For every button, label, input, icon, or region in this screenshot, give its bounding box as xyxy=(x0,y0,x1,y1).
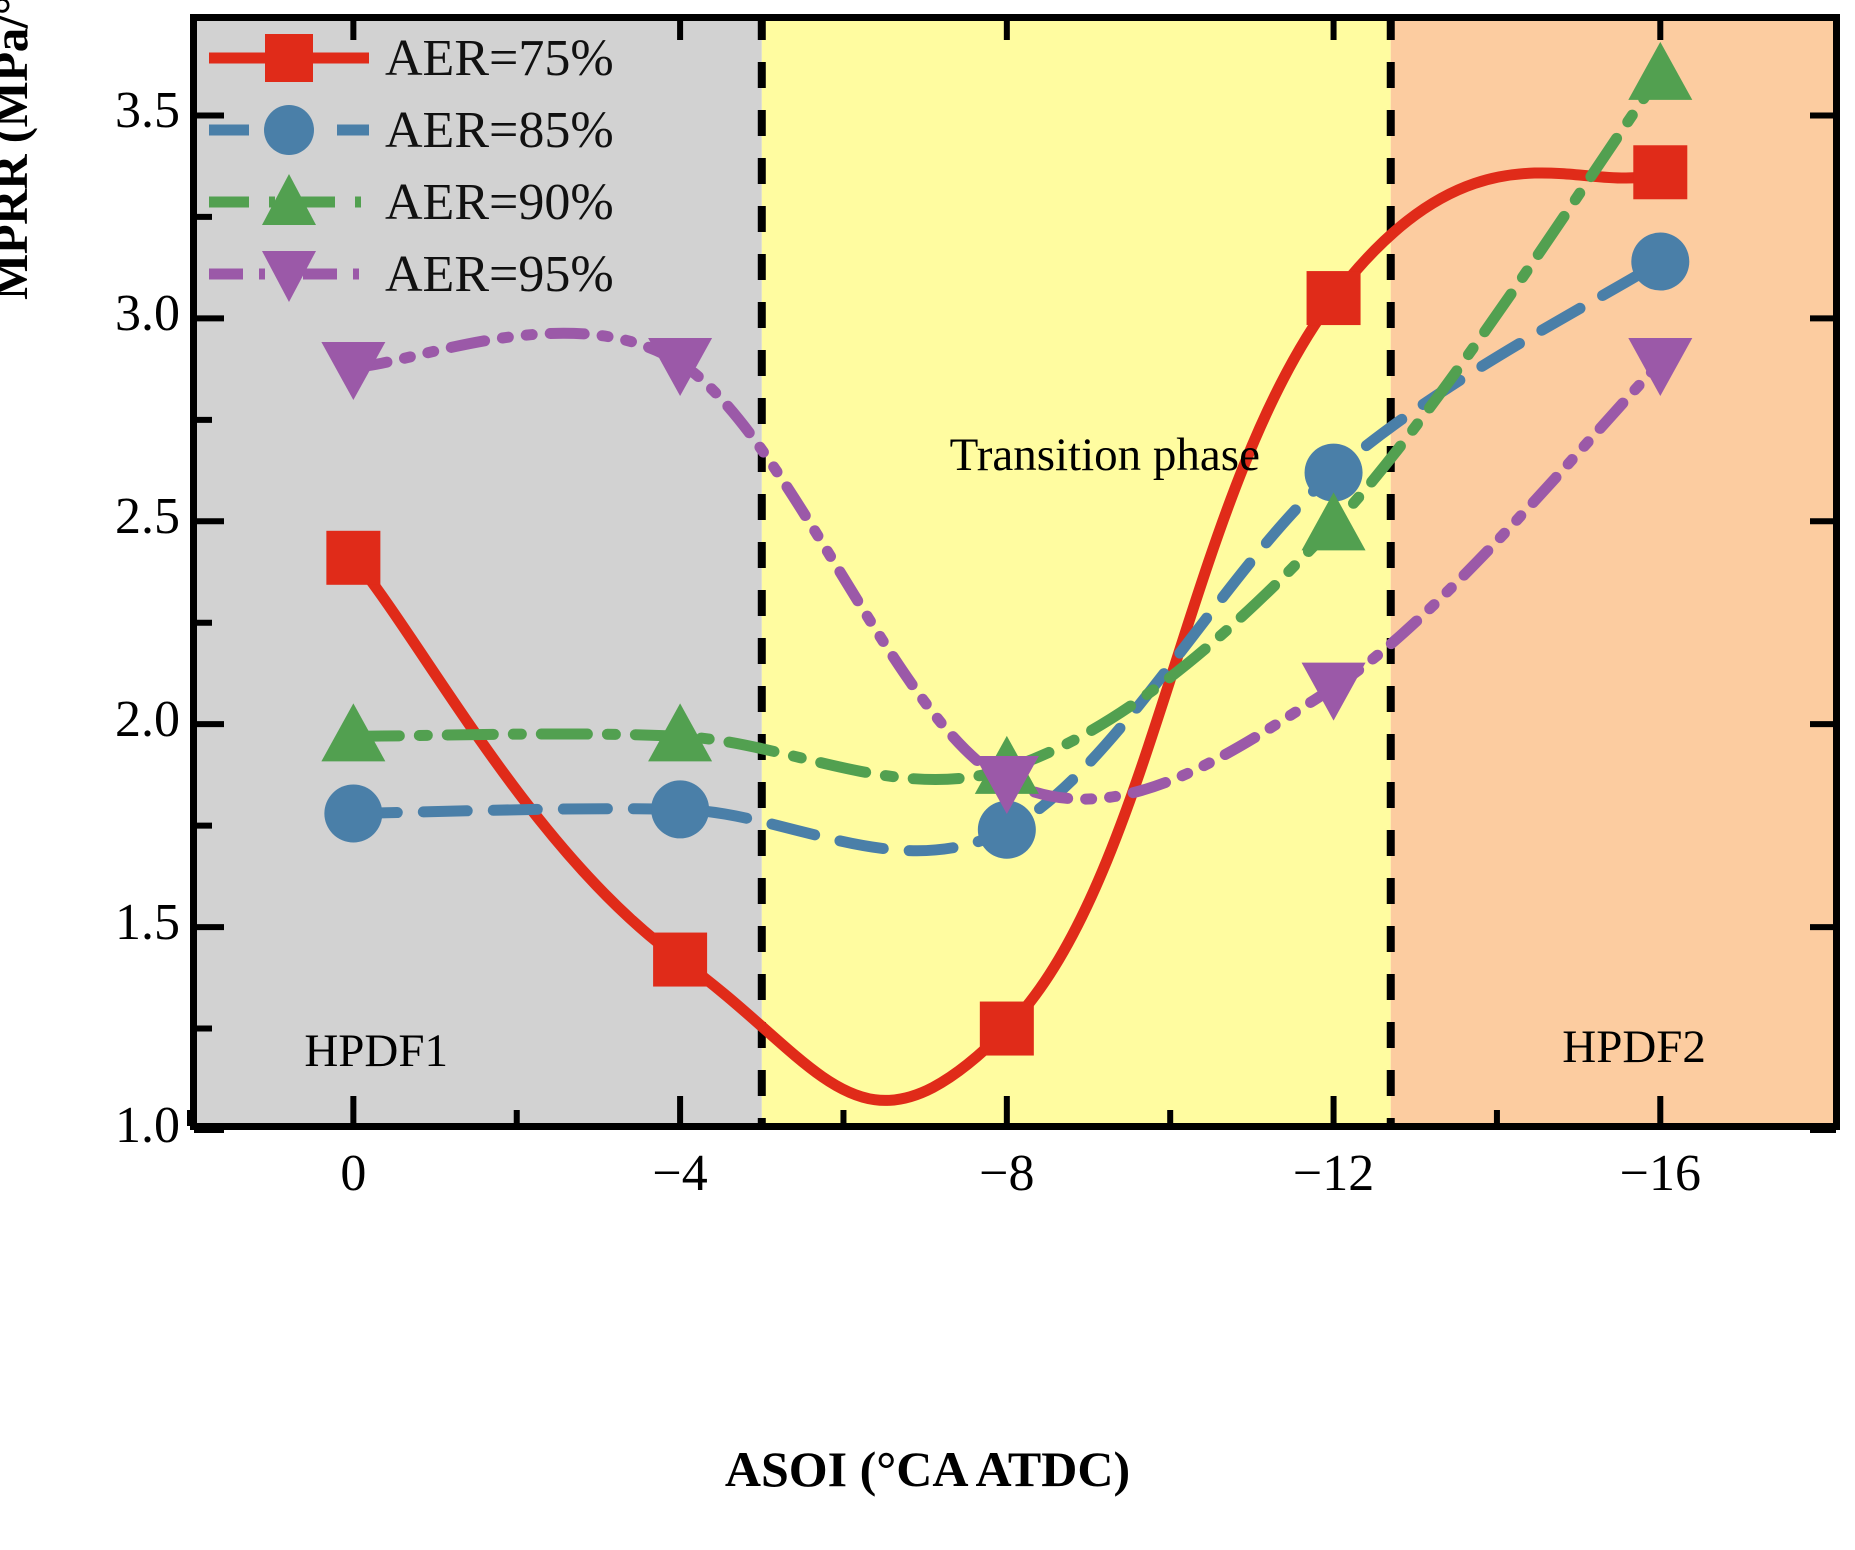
hpdf2-label: HPDF2 xyxy=(1562,1020,1706,1074)
x-tick-label-2: −8 xyxy=(917,1144,1097,1203)
legend: AER=75%AER=85%AER=90%AER=95% xyxy=(205,22,675,310)
legend-label-1: AER=85% xyxy=(385,101,614,160)
data-point-aer-75-2 xyxy=(980,1002,1034,1056)
transition-label: Transition phase xyxy=(950,428,1260,482)
x-axis-title: ASOI (°CA ATDC) xyxy=(0,1440,1855,1498)
data-point-aer-75-0 xyxy=(326,531,380,585)
legend-label-3: AER=95% xyxy=(385,245,614,304)
data-point-aer-75-3 xyxy=(1307,271,1361,325)
x-tick-label-4: −16 xyxy=(1570,1144,1750,1203)
legend-swatch-2 xyxy=(205,172,373,232)
y-tick-label-1: 1.5 xyxy=(20,893,180,952)
data-point-aer-85-1 xyxy=(651,780,709,838)
region-band-transition-phase xyxy=(762,14,1391,1130)
legend-symbol-square-icon xyxy=(205,28,373,88)
x-tick-label-0: 0 xyxy=(263,1144,443,1203)
legend-marker-circle-1 xyxy=(264,105,314,155)
x-axis-tick-labels: 0−4−8−12−16 xyxy=(0,1144,1855,1224)
legend-label-2: AER=90% xyxy=(385,173,614,232)
legend-item-2[interactable]: AER=90% xyxy=(205,166,675,238)
legend-marker-square-0 xyxy=(265,34,313,82)
data-point-aer-75-4 xyxy=(1633,145,1687,199)
data-point-aer-85-4 xyxy=(1631,233,1689,291)
legend-symbol-circle-icon xyxy=(205,100,373,160)
data-point-aer-75-1 xyxy=(653,933,707,987)
legend-item-1[interactable]: AER=85% xyxy=(205,94,675,166)
legend-item-3[interactable]: AER=95% xyxy=(205,238,675,310)
legend-item-0[interactable]: AER=75% xyxy=(205,22,675,94)
legend-swatch-0 xyxy=(205,28,373,88)
y-tick-label-3: 2.5 xyxy=(20,487,180,546)
legend-symbol-triangle-up-icon xyxy=(205,172,373,232)
x-tick-label-3: −12 xyxy=(1244,1144,1424,1203)
legend-swatch-1 xyxy=(205,100,373,160)
y-tick-label-5: 3.5 xyxy=(20,81,180,140)
y-tick-label-2: 2.0 xyxy=(20,690,180,749)
y-axis-title: MPRR (MPa/°CA) xyxy=(0,0,39,300)
legend-label-0: AER=75% xyxy=(385,29,614,88)
data-point-aer-85-0 xyxy=(324,784,382,842)
legend-symbol-triangle-down-icon xyxy=(205,244,373,304)
y-tick-label-4: 3.0 xyxy=(20,284,180,343)
x-tick-label-1: −4 xyxy=(590,1144,770,1203)
legend-swatch-3 xyxy=(205,244,373,304)
chart-figure: 1.01.52.02.53.03.5 MPRR (MPa/°CA) 0−4−8−… xyxy=(0,0,1855,1550)
hpdf1-label: HPDF1 xyxy=(304,1024,448,1078)
